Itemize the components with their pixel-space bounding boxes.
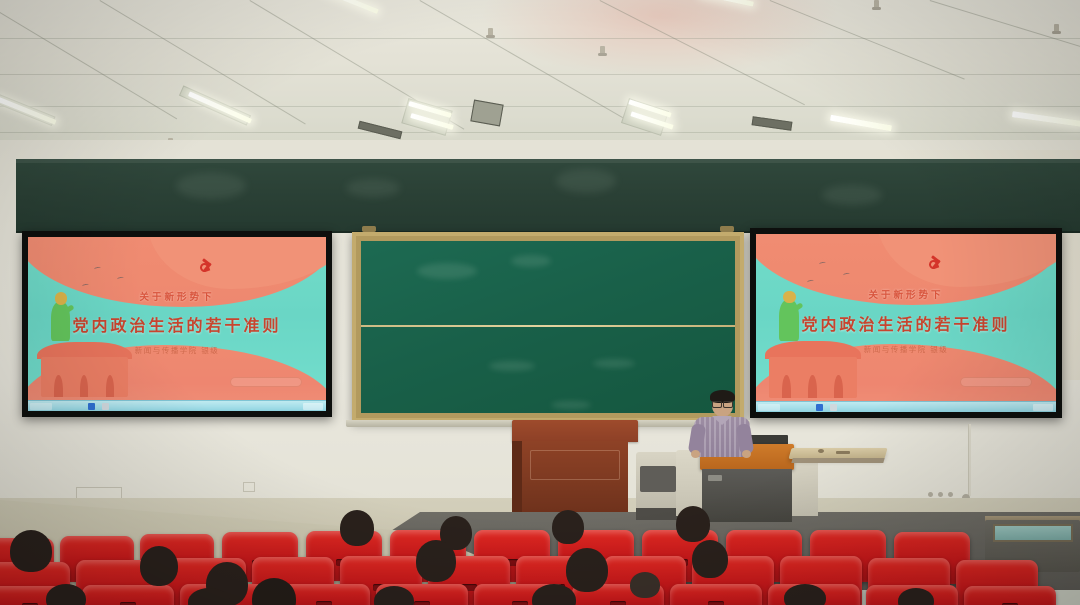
table-row[interactable] <box>670 584 762 605</box>
wall-socket-plate[interactable] <box>243 482 255 492</box>
fluorescent-tube <box>321 0 379 14</box>
fluorescent-tube <box>0 96 57 125</box>
person-head <box>340 510 374 546</box>
valance-band <box>16 159 1080 233</box>
table-object[interactable] <box>836 451 850 454</box>
valance-smudge <box>556 169 616 193</box>
start-button[interactable] <box>30 403 52 410</box>
speaker-hand-left <box>691 450 700 458</box>
chalkboard-surface <box>361 241 735 413</box>
taskbar-app-icon[interactable] <box>816 404 823 411</box>
wall-conduit-pipe <box>968 424 971 496</box>
ceiling-seam <box>0 74 1080 75</box>
chalk-smudge <box>489 361 535 371</box>
chalk-smudge <box>417 263 477 279</box>
chalkboard-divider <box>361 325 735 327</box>
os-taskbar[interactable] <box>28 400 326 411</box>
taskbar-app-icon[interactable] <box>102 403 109 410</box>
presentation-slide: 关于新形势下 党内政治生活的若干准则 新闻与传播学院 银级 <box>756 234 1056 412</box>
person-head <box>552 510 584 544</box>
valance-smudge <box>822 185 882 205</box>
cpc-party-emblem-icon <box>198 260 214 274</box>
air-vent <box>752 116 793 130</box>
side-table-edge <box>791 458 884 463</box>
slide-subtitle: 新闻与传播学院 银级 <box>28 345 326 356</box>
screen-surface: 关于新形势下 党内政治生活的若干准则 新闻与传播学院 银级 <box>28 237 326 411</box>
person-head <box>566 548 608 592</box>
table-object[interactable] <box>818 449 824 453</box>
slide-badge <box>960 377 1032 387</box>
screen-surface: 关于新形势下 党内政治生活的若干准则 新闻与传播学院 银级 <box>756 234 1056 412</box>
rack-base <box>636 508 680 520</box>
glasses-icon <box>712 401 733 406</box>
projection-screen-right[interactable]: 关于新形势下 党内政治生活的若干准则 新闻与传播学院 银级 <box>750 228 1062 418</box>
taskbar-clock <box>303 403 323 410</box>
table-row[interactable] <box>82 585 174 605</box>
ceiling <box>0 0 1080 152</box>
gate-arch <box>834 375 843 398</box>
valance-smudge <box>346 179 400 197</box>
person-head <box>784 584 826 605</box>
gate-arch <box>808 375 817 398</box>
person-head <box>10 530 52 572</box>
gate-arch <box>782 375 791 398</box>
ceiling-seam <box>0 132 1080 133</box>
fluorescent-tube <box>188 91 252 123</box>
slide-title-small: 关于新形势下 <box>756 287 1056 301</box>
gate-arch <box>54 375 63 397</box>
rack-monitor-screen <box>640 466 676 492</box>
podium-top <box>512 420 638 442</box>
sprinkler-head <box>488 28 493 37</box>
central-podium[interactable]: 中央木质讲桌 <box>512 420 638 512</box>
air-vent <box>470 100 503 127</box>
console-desk-glass <box>993 524 1073 542</box>
chalkboard[interactable] <box>352 232 744 422</box>
person-head <box>692 540 728 578</box>
projection-screen-left[interactable]: 关于新形势下 党内政治生活的若干准则 新闻与传播学院 银级 <box>22 231 332 417</box>
podium-panel <box>530 450 620 480</box>
taskbar-app-icon[interactable] <box>830 404 837 411</box>
taskbar-app-icon[interactable] <box>88 403 95 410</box>
fluorescent-tube <box>830 115 892 132</box>
sprinkler-head <box>874 0 879 9</box>
chalkboard-clip <box>720 226 734 232</box>
person-head <box>140 546 178 586</box>
person-head <box>630 572 660 598</box>
slide-title-main: 党内政治生活的若干准则 <box>28 312 326 336</box>
sprinkler-head <box>1054 24 1059 33</box>
equipment-rack[interactable] <box>636 452 680 518</box>
slide-subtitle: 新闻与传播学院 银级 <box>756 344 1056 355</box>
table-row[interactable] <box>964 586 1056 605</box>
fluorescent-tube <box>1012 111 1080 127</box>
taskbar-clock <box>1033 404 1053 411</box>
chalk-smudge <box>593 359 635 368</box>
ceiling-seam <box>0 106 1080 107</box>
chalk-smudge <box>551 401 591 409</box>
os-taskbar[interactable] <box>756 401 1056 412</box>
presentation-slide: 关于新形势下 党内政治生活的若干准则 新闻与传播学院 银级 <box>28 237 326 411</box>
sprinkler-head <box>600 46 605 55</box>
lecture-hall-scene: 关于新形势下 党内政治生活的若干准则 新闻与传播学院 银级 <box>0 0 1080 605</box>
wall-outlet-knob[interactable] <box>938 492 943 497</box>
valance-smudge <box>176 173 246 199</box>
wall-outlet-knob[interactable] <box>928 492 933 497</box>
slide-title-main: 党内政治生活的若干准则 <box>756 311 1056 335</box>
speaker-person: 讲者 <box>690 392 752 454</box>
slide-badge <box>230 377 302 387</box>
person-head <box>416 540 456 582</box>
speaker-hand-right <box>742 450 751 458</box>
lectern-label-plate <box>708 475 722 481</box>
start-button[interactable] <box>758 404 780 411</box>
chalkboard-clip <box>362 226 376 232</box>
chalk-smudge <box>511 255 551 267</box>
air-vent <box>358 121 403 139</box>
cpc-party-emblem-icon <box>927 257 943 271</box>
ceiling-seam <box>0 0 177 119</box>
slide-title-small: 关于新形势下 <box>28 289 326 303</box>
person-head <box>676 506 710 542</box>
